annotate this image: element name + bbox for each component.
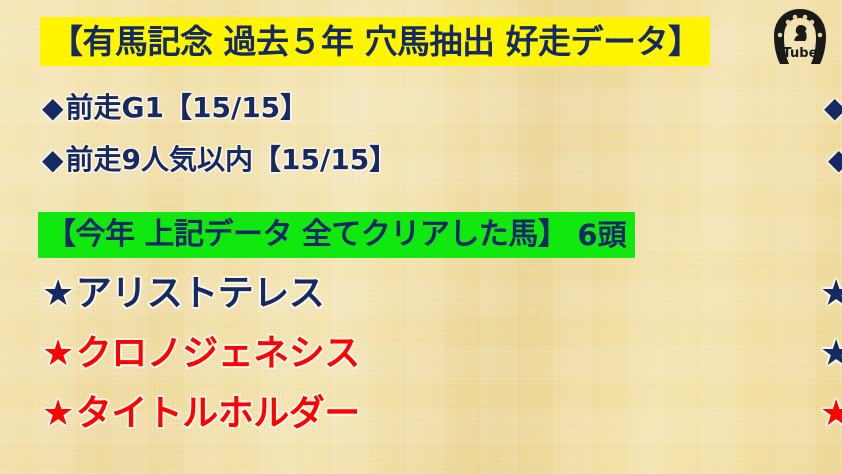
horse-name: タイトルホルダー — [76, 396, 360, 432]
horse-name: アリストテレス — [76, 276, 325, 312]
horse-entry: ★ クロノジェネシス — [0, 324, 400, 384]
diamond-bullet-icon: ◆ — [828, 146, 842, 174]
criteria-item: ◆ G1連対経験馬【14/15】 — [400, 134, 842, 186]
horse-entry: ★ エフフォーリア — [400, 264, 842, 324]
criteria-list: ◆ 前走G1【15/15】 ◆ ３〜５歳【14/15】 ◆ 前走9人気以内【15… — [0, 82, 842, 186]
horseshoe-tube-logo: Tube — [764, 4, 836, 70]
star-bullet-icon: ★ — [42, 276, 74, 312]
diamond-bullet-icon: ◆ — [824, 94, 842, 122]
slide-canvas: 【有馬記念 過去５年 穴馬抽出 好走データ】 Tube ◆ 前走G1【15/ — [0, 0, 842, 474]
title-banner: 【有馬記念 過去５年 穴馬抽出 好走データ】 — [40, 17, 710, 66]
horse-count-badge: 6頭 — [577, 221, 626, 250]
star-bullet-icon: ★ — [820, 396, 842, 432]
star-bullet-icon: ★ — [42, 396, 74, 432]
horse-entry: ★ ディープボンド — [400, 384, 842, 444]
criteria-item: ◆ 前走G1【15/15】 — [0, 82, 400, 134]
diamond-bullet-icon: ◆ — [42, 94, 64, 122]
horse-entry: ★ ステラヴェローチェ — [400, 324, 842, 384]
horse-entry: ★ アリストテレス — [0, 264, 400, 324]
section-title: 【今年 上記データ 全てクリアした馬】 — [46, 220, 567, 250]
svg-text:Tube: Tube — [783, 46, 818, 61]
criteria-label: 前走9人気以内【15/15】 — [66, 146, 398, 174]
star-bullet-icon: ★ — [42, 336, 74, 372]
diamond-bullet-icon: ◆ — [42, 146, 64, 174]
star-bullet-icon: ★ — [820, 276, 842, 312]
qualified-horses-banner: 【今年 上記データ 全てクリアした馬】 6頭 — [38, 212, 635, 258]
horse-name-list: ★ アリストテレス ★ エフフォーリア ★ クロノジェネシス ★ ステラヴェロー… — [0, 264, 842, 444]
horse-name: クロノジェネシス — [76, 336, 360, 372]
page-title: 【有馬記念 過去５年 穴馬抽出 好走データ】 — [50, 25, 700, 58]
criteria-label: 前走G1【15/15】 — [66, 94, 309, 122]
star-bullet-icon: ★ — [820, 336, 842, 372]
criteria-item: ◆ ３〜５歳【14/15】 — [400, 82, 842, 134]
horse-entry: ★ タイトルホルダー — [0, 384, 400, 444]
criteria-item: ◆ 前走9人気以内【15/15】 — [0, 134, 400, 186]
